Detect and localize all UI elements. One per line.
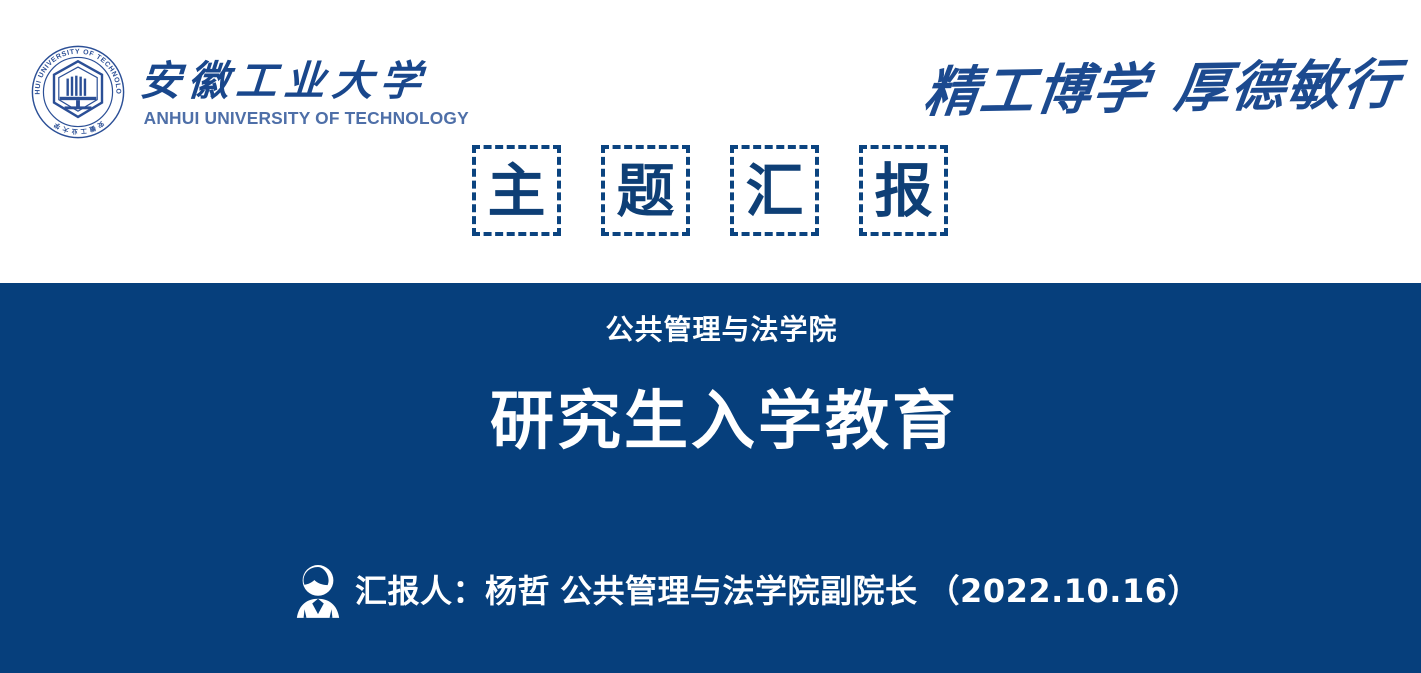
slide-header-band: ANHUI UNIVERSITY OF TECHNOLOGY 安徽工业大学 (0, 0, 1421, 283)
presenter-date: （2022.10.16） (928, 572, 1200, 610)
heading-char-1: 主 (487, 162, 545, 220)
presenter-avatar-icon (293, 564, 343, 618)
university-logo-text: 安徽工业大学 ANHUI UNIVERSITY OF TECHNOLOGY (140, 56, 470, 129)
presenter-text: 汇报人：杨哲公共管理与法学院副院长（2022.10.16） (355, 569, 1200, 613)
presentation-title-slide: ANHUI UNIVERSITY OF TECHNOLOGY 安徽工业大学 (0, 0, 1421, 673)
university-logo: ANHUI UNIVERSITY OF TECHNOLOGY 安徽工业大学 (30, 43, 430, 141)
presenter-line: 汇报人：杨哲公共管理与法学院副院长（2022.10.16） (0, 564, 1421, 618)
university-name-en: ANHUI UNIVERSITY OF TECHNOLOGY (144, 107, 469, 129)
heading-box-4: 报 (859, 145, 948, 236)
page-title: 研究生入学教育 (0, 378, 1421, 466)
heading-box-1: 主 (472, 145, 561, 236)
university-motto: 精工博学厚德敏行 (920, 44, 1405, 132)
heading-char-2: 题 (616, 162, 674, 220)
presenter-role: 公共管理与法学院副院长 (560, 572, 918, 610)
heading-char-4: 报 (874, 162, 932, 220)
university-seal-icon: ANHUI UNIVERSITY OF TECHNOLOGY 安徽工业大学 (30, 44, 126, 140)
presenter-label: 汇报人： (355, 572, 485, 610)
motto-part-2: 厚德敏行 (1171, 52, 1403, 120)
heading-box-3: 汇 (730, 145, 819, 236)
heading-box-2: 题 (601, 145, 690, 236)
college-name: 公共管理与法学院 (0, 311, 1421, 349)
heading-char-3: 汇 (745, 162, 803, 220)
motto-part-1: 精工博学 (921, 56, 1153, 124)
section-heading-dashed-boxes: 主 题 汇 报 (472, 145, 948, 236)
university-name-cn: 安徽工业大学 (138, 58, 472, 104)
presenter-name: 杨哲 (485, 572, 550, 610)
slide-body-band: 公共管理与法学院 研究生入学教育 汇报人：杨哲公共管理与法学院副院长（2022.… (0, 283, 1421, 673)
